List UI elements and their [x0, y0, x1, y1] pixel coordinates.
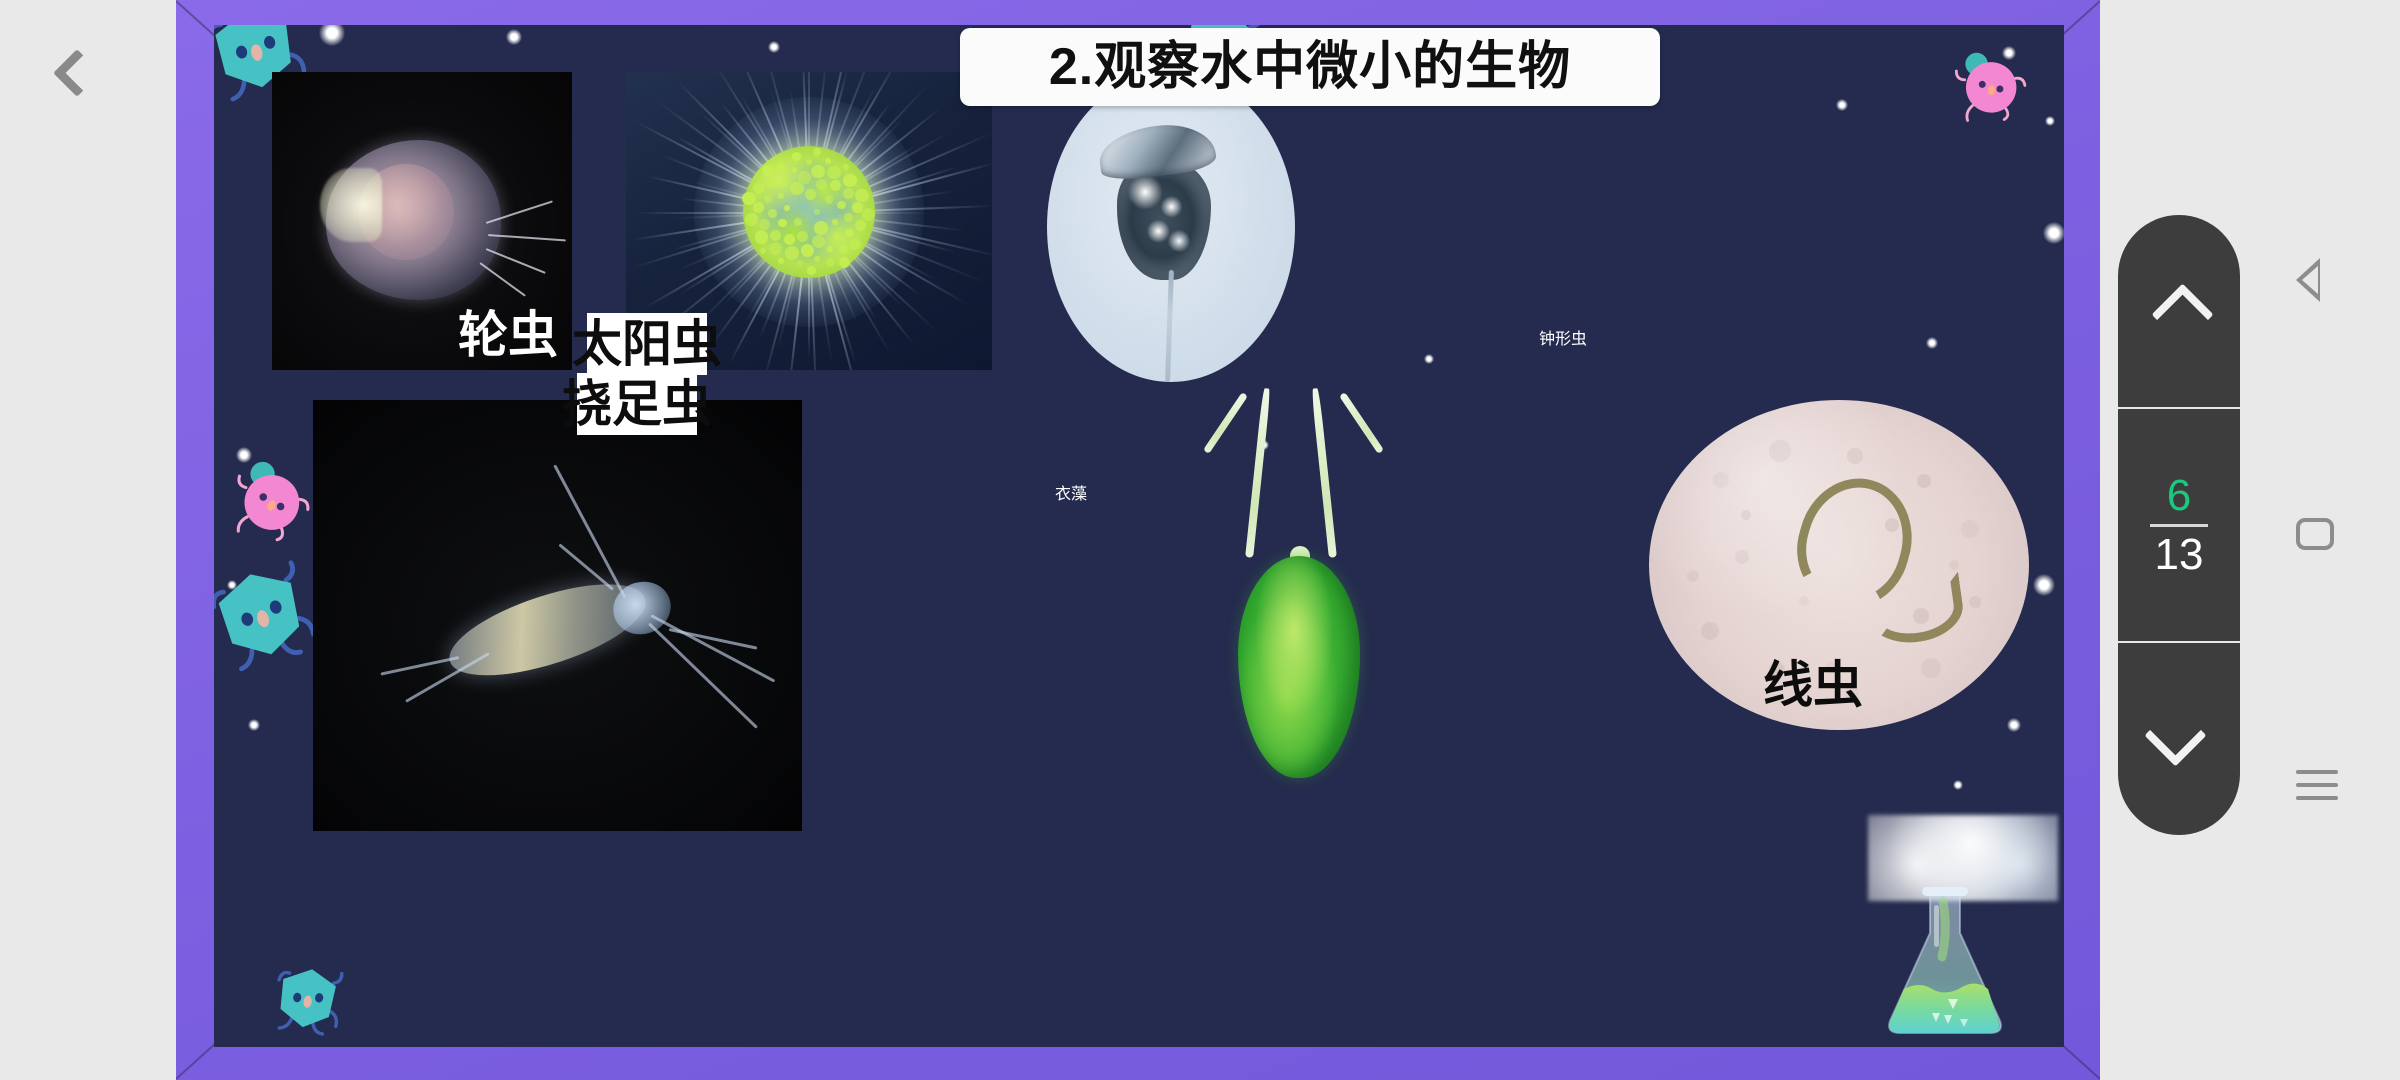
chlamydomonas-flagellum-curl-left: [1203, 392, 1248, 454]
copepod-antenna: [553, 464, 626, 598]
debris-particle: [1769, 440, 1791, 462]
heliozoan-chloroplast: [843, 188, 854, 199]
debris-particle: [1701, 622, 1719, 640]
cartoon-microbe-icon: [230, 459, 314, 543]
heliozoan-chloroplast: [798, 171, 812, 185]
chlamydomonas-flagellum-left: [1245, 388, 1271, 558]
rotifer-spine: [486, 248, 546, 274]
debris-particle: [1687, 570, 1699, 582]
rotifer-corona: [320, 168, 382, 242]
total-page-number: 13: [2155, 533, 2204, 577]
specimen-label-copepod: 挠足虫: [562, 377, 712, 431]
debris-particle: [1969, 596, 1981, 608]
sparkle-icon: [1953, 780, 1963, 790]
heliozoan-chloroplast: [850, 239, 861, 250]
previous-page-button[interactable]: [2118, 215, 2240, 407]
system-back-button[interactable]: [2296, 258, 2320, 302]
sparkle-icon: [319, 25, 345, 46]
heliozoan-chloroplast: [843, 164, 849, 170]
right-system-rail: 6 13: [2100, 0, 2400, 1080]
sparkle-icon: [2043, 222, 2064, 244]
chlamydomonas-cell-body: [1238, 556, 1360, 778]
sparkle-icon: [248, 719, 260, 731]
heliozoan-chloroplast: [755, 230, 769, 244]
left-app-rail: [0, 0, 176, 1080]
hamburger-recents-icon: [2296, 783, 2338, 787]
heliozoan-chloroplast: [792, 152, 801, 161]
heliozoan-chloroplast: [791, 167, 797, 173]
copepod-antenna: [558, 543, 614, 590]
heliozoan-chloroplast: [778, 258, 784, 264]
heliozoan-chloroplast: [832, 219, 838, 225]
heliozoan-chloroplast: [742, 192, 756, 206]
heliozoan-chloroplast: [837, 201, 846, 210]
system-recents-button[interactable]: [2296, 770, 2338, 800]
heliozoan-chloroplast: [830, 180, 841, 191]
specimen-label-vorticella: 钟形虫: [1539, 325, 1587, 349]
heliozoan-chloroplast: [770, 230, 781, 241]
debris-particle: [1921, 658, 1941, 678]
specimen-photo-rotifer: 轮虫: [272, 72, 572, 370]
heliozoan-chloroplast: [814, 209, 820, 215]
sparkle-icon: [236, 447, 252, 463]
heliozoan-chloroplast: [833, 232, 839, 238]
specimen-label-rotifer: 轮虫: [458, 310, 558, 360]
heliozoan-chloroplast: [814, 221, 828, 235]
triangle-back-icon: [2302, 266, 2318, 294]
debris-particle: [1949, 560, 1959, 570]
sparkle-icon: [1836, 99, 1848, 111]
heliozoan-chloroplast: [769, 242, 783, 256]
heliozoan-chloroplast: [801, 244, 815, 258]
chlamydomonas-flagellum-right: [1311, 388, 1337, 558]
heliozoan-chloroplast: [805, 189, 816, 200]
specimen-chip-heliozoan: 太阳虫: [587, 313, 707, 375]
sparkle-icon: [2045, 116, 2055, 126]
heliozoan-chloroplast: [759, 219, 770, 230]
heliozoan-chloroplast: [797, 231, 808, 242]
current-page-number: 6: [2167, 474, 2191, 518]
heliozoan-chloroplast: [813, 148, 822, 157]
page-fraction-rule: [2150, 524, 2208, 527]
heliozoan-chloroplast: [812, 235, 826, 249]
chevron-up-icon: [2151, 283, 2213, 345]
debris-particle: [1713, 472, 1729, 488]
page-title: 2.观察水中微小的生物: [1049, 41, 1571, 93]
heliozoan-chloroplast: [827, 166, 841, 180]
specimen-label-nematode: 线虫: [1763, 660, 1863, 710]
back-button[interactable]: [22, 18, 132, 128]
cartoon-microbe-icon: [270, 961, 347, 1038]
chlamydomonas-flagellum-curl-right: [1339, 392, 1384, 454]
specimen-illustration-chlamydomonas: [1200, 380, 1400, 830]
sparkle-icon: [2002, 46, 2016, 60]
debris-particle: [1799, 596, 1809, 606]
heliozoan-chloroplast: [768, 209, 777, 218]
specimen-photo-vorticella: [1047, 72, 1295, 382]
heliozoan-chloroplast: [839, 257, 850, 268]
heliozoan-chloroplast: [778, 219, 787, 228]
copepod-body: [440, 566, 656, 694]
chevron-down-icon: [2144, 704, 2206, 766]
sparkle-icon: [1424, 354, 1434, 364]
next-page-button[interactable]: [2118, 643, 2240, 835]
debris-particle: [1735, 550, 1749, 564]
heliozoan-chloroplast: [753, 202, 764, 213]
rotifer-spine: [479, 262, 525, 297]
heliozoan-chloroplast: [855, 189, 869, 203]
heliozoan-chloroplast: [784, 205, 790, 211]
steam-cloud-icon: [1868, 815, 2058, 901]
specimen-label-heliozoan: 太阳虫: [572, 317, 722, 371]
heliozoan-chloroplast: [806, 159, 812, 165]
heliozoan-chloroplast: [794, 218, 803, 227]
sparkle-icon: [2033, 574, 2055, 596]
screen: 轮虫: [0, 0, 2400, 1080]
heliozoan-chloroplast: [764, 195, 773, 204]
heliozoan-chloroplast: [753, 183, 764, 194]
heliozoan-chloroplast: [825, 195, 834, 204]
sparkle-icon: [768, 41, 780, 53]
heliozoan-chloroplast: [825, 158, 831, 164]
chevron-left-icon: [53, 49, 101, 97]
slide-title-box: 2.观察水中微小的生物: [960, 28, 1660, 106]
heliozoan-chloroplast: [778, 193, 784, 199]
debris-particle: [1917, 474, 1931, 488]
specimen-chip-copepod: 挠足虫: [577, 373, 697, 435]
system-home-button[interactable]: [2296, 518, 2334, 550]
heliozoan-chloroplast: [797, 260, 803, 266]
heliozoan-chloroplast: [827, 246, 833, 252]
heliozoan-cell-body: [743, 146, 875, 278]
specimen-label-chlamydomonas: 衣藻: [1055, 480, 1087, 504]
heliozoan-chloroplast: [760, 248, 766, 254]
flask-icon: [1870, 871, 2020, 1041]
cartoon-microbe-icon: [1951, 46, 2030, 125]
heliozoan-chloroplast: [776, 163, 785, 172]
heliozoan-chloroplast: [785, 246, 799, 260]
heliozoan-chloroplast: [862, 208, 876, 222]
debris-particle: [1961, 520, 1979, 538]
slide-canvas: 轮虫: [214, 25, 2064, 1047]
specimen-photo-nematode: 线虫: [1649, 400, 2029, 730]
sparkle-icon: [227, 580, 237, 590]
heliozoan-chloroplast: [814, 256, 820, 262]
hamburger-recents-icon: [2296, 796, 2338, 800]
heliozoan-chloroplast: [839, 245, 848, 254]
heliozoan-chloroplast: [784, 234, 795, 245]
heliozoan-chloroplast: [826, 258, 835, 267]
debris-particle: [1847, 448, 1863, 464]
heliozoan-chloroplast: [790, 182, 804, 196]
page-indicator[interactable]: 6 13: [2118, 409, 2240, 641]
heliozoan-chloroplast: [855, 220, 866, 231]
cartoon-microbe-icon: [214, 556, 321, 675]
page-navigator: 6 13: [2118, 215, 2240, 835]
sparkle-icon: [1926, 337, 1938, 349]
sparkle-icon: [506, 29, 522, 45]
slide-frame[interactable]: 轮虫: [176, 0, 2100, 1080]
heliozoan-chloroplast: [843, 174, 857, 188]
heliozoan-chloroplast: [767, 179, 776, 188]
heliozoan-chloroplast: [781, 179, 787, 185]
heliozoan-chloroplast: [807, 266, 816, 275]
heliozoan-chloroplast: [844, 213, 853, 222]
copepod-antenna: [380, 656, 459, 676]
heliozoan-chloroplast: [745, 213, 759, 227]
heliozoan-chloroplast: [845, 229, 854, 238]
heliozoan-chloroplast: [816, 179, 827, 190]
heliozoan-chloroplast: [811, 165, 825, 179]
hamburger-recents-icon: [2296, 770, 2338, 774]
debris-particle: [1741, 510, 1751, 520]
heliozoan-chloroplast: [762, 165, 773, 176]
specimen-photo-copepod: [313, 400, 802, 831]
